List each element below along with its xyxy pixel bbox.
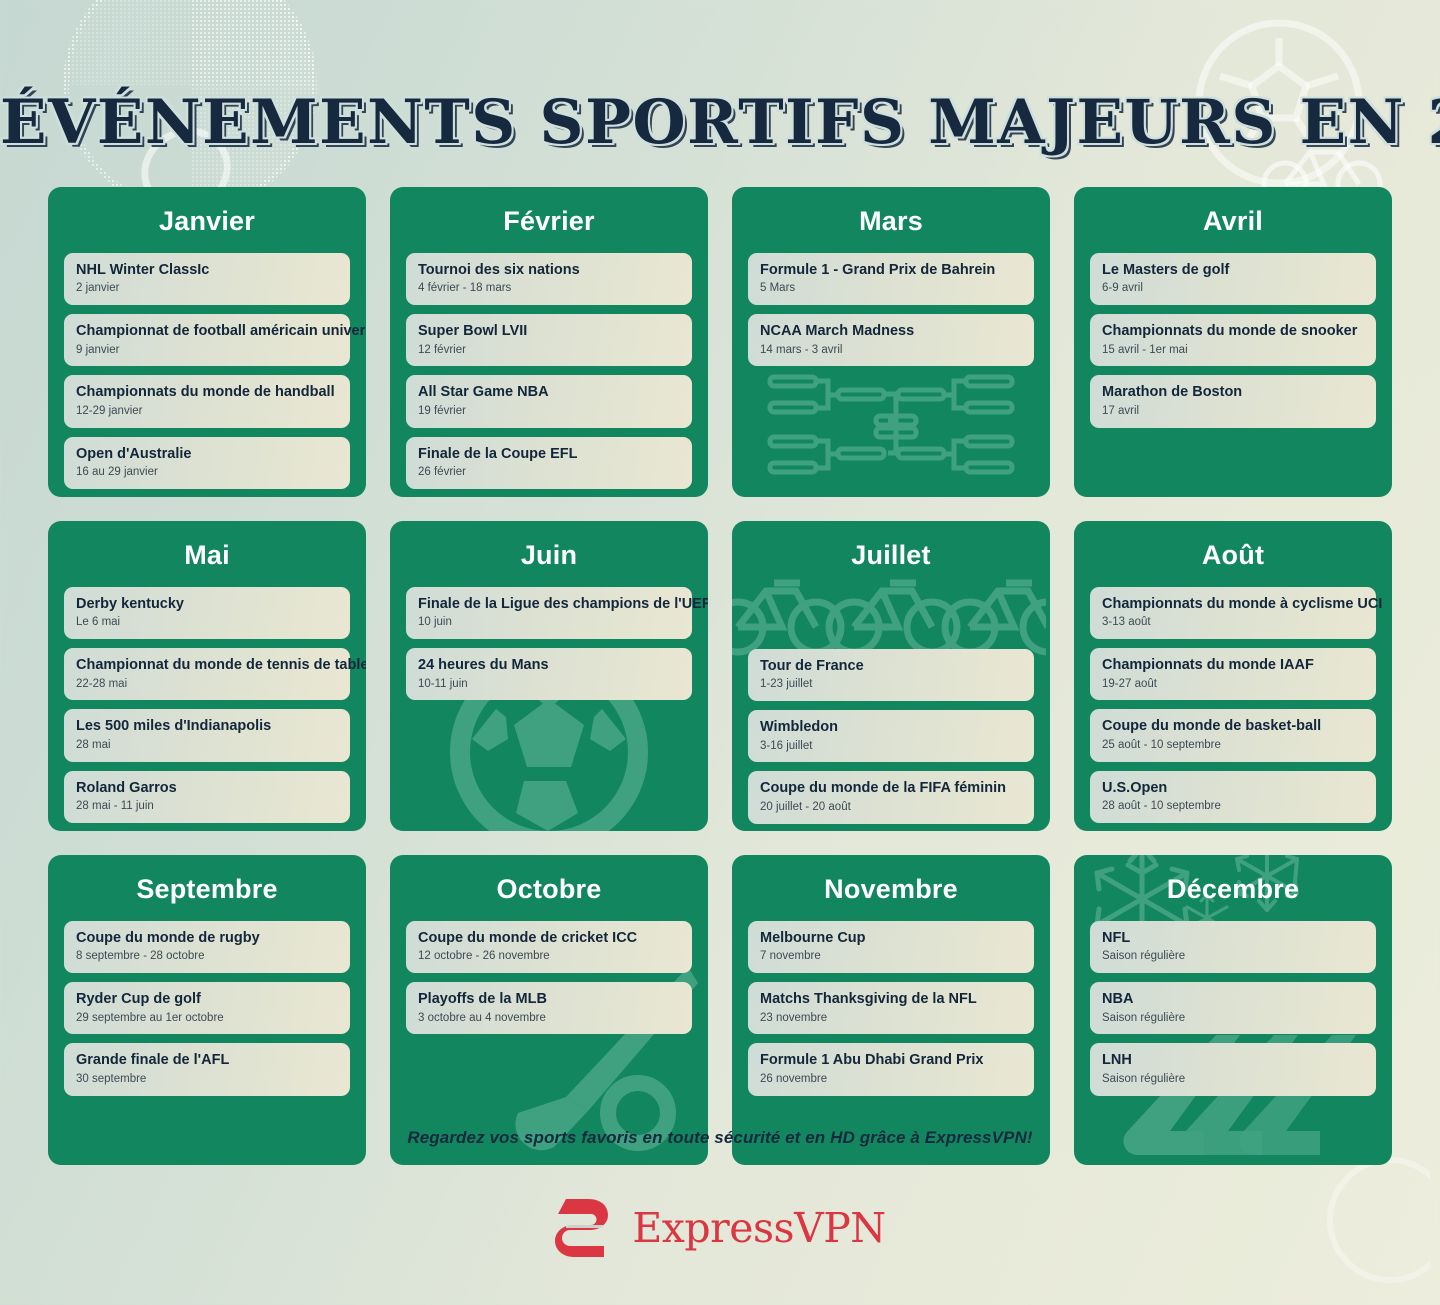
expressvpn-mark-icon [554, 1198, 618, 1258]
event-item[interactable]: Finale de la Ligue des champions de l'UE… [406, 587, 692, 639]
event-item[interactable]: Super Bowl LVII 12 février [406, 314, 692, 366]
month-card-octobre: Octobre Coupe du monde de cricket ICC 12… [390, 855, 708, 1165]
event-item[interactable]: Formule 1 Abu Dhabi Grand Prix 26 novemb… [748, 1043, 1034, 1095]
event-date: 3 octobre au 4 novembre [418, 1012, 680, 1025]
month-title: Décembre [1090, 855, 1376, 921]
event-name: Championnats du monde de snooker [1102, 323, 1364, 340]
event-date: Saison régulière [1102, 950, 1364, 963]
event-item[interactable]: Matchs Thanksgiving de la NFL 23 novembr… [748, 982, 1034, 1034]
month-title: Septembre [64, 855, 350, 921]
event-date: 12-29 janvier [76, 405, 338, 418]
month-card-juillet: Juillet Tour de France 1-23 juillet Wimb… [732, 521, 1050, 831]
event-item[interactable]: Championnats du monde à cyclisme UCI 3-1… [1090, 587, 1376, 639]
month-card-avril: Avril Le Masters de golf 6-9 avril Champ… [1074, 187, 1392, 497]
event-item[interactable]: NCAA March Madness 14 mars - 3 avril [748, 314, 1034, 366]
event-name: Melbourne Cup [760, 930, 1022, 947]
page-title-wrap: ÉVÉNEMENTS SPORTIFS MAJEURS EN 2023 [0, 46, 1440, 199]
event-name: Coupe du monde de rugby [76, 930, 338, 947]
event-name: Grande finale de l'AFL [76, 1052, 338, 1069]
event-item[interactable]: Coupe du monde de rugby 8 septembre - 28… [64, 921, 350, 973]
event-name: Le Masters de golf [1102, 262, 1364, 279]
events-list: Melbourne Cup 7 novembre Matchs Thanksgi… [748, 921, 1034, 1096]
months-grid: Janvier NHL Winter ClassIc 2 janvier Cha… [48, 187, 1392, 1165]
event-date: 5 Mars [760, 282, 1022, 295]
expressvpn-wordmark: ExpressVPN [632, 1208, 885, 1249]
event-date: 12 octobre - 26 novembre [418, 950, 680, 963]
event-item[interactable]: Tour de France 1-23 juillet [748, 649, 1034, 701]
event-item[interactable]: Coupe du monde de basket-ball 25 août - … [1090, 709, 1376, 761]
event-date: 15 avril - 1er mai [1102, 344, 1364, 357]
month-title: Mai [64, 521, 350, 587]
month-card-novembre: Novembre Melbourne Cup 7 novembre Matchs… [732, 855, 1050, 1165]
events-list: Derby kentucky Le 6 mai Championnat du m… [64, 587, 350, 823]
events-list: Championnats du monde à cyclisme UCI 3-1… [1090, 587, 1376, 823]
event-item[interactable]: Championnats du monde de snooker 15 avri… [1090, 314, 1376, 366]
event-item[interactable]: Les 500 miles d'Indianapolis 28 mai [64, 709, 350, 761]
events-list: Coupe du monde de cricket ICC 12 octobre… [406, 921, 692, 1035]
event-item[interactable]: Derby kentucky Le 6 mai [64, 587, 350, 639]
event-item[interactable]: U.S.Open 28 août - 10 septembre [1090, 771, 1376, 823]
event-item[interactable]: Le Masters de golf 6-9 avril [1090, 253, 1376, 305]
event-item[interactable]: Championnat du monde de tennis de table … [64, 648, 350, 700]
event-item[interactable]: Playoffs de la MLB 3 octobre au 4 novemb… [406, 982, 692, 1034]
tournament-bracket-icon [766, 371, 1016, 481]
event-date: 3-16 juillet [760, 740, 1022, 753]
events-list: NFL Saison régulière NBA Saison régulièr… [1090, 921, 1376, 1096]
event-item[interactable]: LNH Saison régulière [1090, 1043, 1376, 1095]
events-list: Tournoi des six nations 4 février - 18 m… [406, 253, 692, 489]
footer-tagline: Regardez vos sports favoris en toute séc… [0, 1128, 1440, 1148]
event-name: Formule 1 Abu Dhabi Grand Prix [760, 1052, 1022, 1069]
event-name: Open d'Australie [76, 446, 338, 463]
event-name: Ryder Cup de golf [76, 991, 338, 1008]
event-name: Wimbledon [760, 719, 1022, 736]
event-date: 9 janvier [76, 344, 338, 357]
event-name: NBA [1102, 991, 1364, 1008]
event-date: 23 novembre [760, 1012, 1022, 1025]
event-name: Les 500 miles d'Indianapolis [76, 718, 338, 735]
event-item[interactable]: Ryder Cup de golf 29 septembre au 1er oc… [64, 982, 350, 1034]
month-title: Juin [406, 521, 692, 587]
expressvpn-logo[interactable]: ExpressVPN [0, 1198, 1440, 1258]
event-name: Coupe du monde de cricket ICC [418, 930, 680, 947]
page-title: ÉVÉNEMENTS SPORTIFS MAJEURS EN 2023 [0, 87, 1440, 158]
event-date: 14 mars - 3 avril [760, 344, 1022, 357]
event-date: Saison régulière [1102, 1073, 1364, 1086]
event-item[interactable]: 24 heures du Mans 10-11 juin [406, 648, 692, 700]
event-item[interactable]: Wimbledon 3-16 juillet [748, 710, 1034, 762]
event-date: Saison régulière [1102, 1012, 1364, 1025]
event-item[interactable]: Finale de la Coupe EFL 26 février [406, 437, 692, 489]
event-date: 4 février - 18 mars [418, 282, 680, 295]
event-date: 6-9 avril [1102, 282, 1364, 295]
month-title: Octobre [406, 855, 692, 921]
event-name: Playoffs de la MLB [418, 991, 680, 1008]
event-date: Le 6 mai [76, 616, 338, 629]
event-item[interactable]: NHL Winter ClassIc 2 janvier [64, 253, 350, 305]
event-date: 19 février [418, 405, 680, 418]
event-name: Championnats du monde à cyclisme UCI [1102, 596, 1364, 613]
event-name: Championnats du monde IAAF [1102, 657, 1364, 674]
event-date: 17 avril [1102, 405, 1364, 418]
events-list: Finale de la Ligue des champions de l'UE… [406, 587, 692, 701]
month-title: Juillet [748, 521, 1034, 587]
event-date: 1-23 juillet [760, 678, 1022, 691]
events-list: Coupe du monde de rugby 8 septembre - 28… [64, 921, 350, 1096]
event-name: Tournoi des six nations [418, 262, 680, 279]
event-name: Finale de la Ligue des champions de l'UE… [418, 596, 680, 613]
event-date: 2 janvier [76, 282, 338, 295]
event-date: 29 septembre au 1er octobre [76, 1012, 338, 1025]
event-name: 24 heures du Mans [418, 657, 680, 674]
event-item[interactable]: Marathon de Boston 17 avril [1090, 375, 1376, 427]
event-item[interactable]: Coupe du monde de cricket ICC 12 octobre… [406, 921, 692, 973]
event-name: Championnat de football américain univer… [76, 323, 338, 340]
event-date: 28 mai [76, 739, 338, 752]
event-date: 8 septembre - 28 octobre [76, 950, 338, 963]
event-date: 12 février [418, 344, 680, 357]
event-name: U.S.Open [1102, 780, 1364, 797]
event-name: Matchs Thanksgiving de la NFL [760, 991, 1022, 1008]
event-date: 26 février [418, 466, 680, 479]
event-name: Super Bowl LVII [418, 323, 680, 340]
month-card-janvier: Janvier NHL Winter ClassIc 2 janvier Cha… [48, 187, 366, 497]
event-date: 28 mai - 11 juin [76, 800, 338, 813]
event-name: Tour de France [760, 658, 1022, 675]
event-date: 19-27 août [1102, 678, 1364, 691]
event-date: 10-11 juin [418, 678, 680, 691]
event-item[interactable]: Championnats du monde IAAF 19-27 août [1090, 648, 1376, 700]
event-date: 10 juin [418, 616, 680, 629]
event-item[interactable]: Championnats du monde de handball 12-29 … [64, 375, 350, 427]
event-name: Derby kentucky [76, 596, 338, 613]
month-title: Août [1090, 521, 1376, 587]
event-name: Coupe du monde de basket-ball [1102, 718, 1364, 735]
month-card-mai: Mai Derby kentucky Le 6 mai Championnat … [48, 521, 366, 831]
event-name: NCAA March Madness [760, 323, 1022, 340]
event-name: Coupe du monde de la FIFA féminin [760, 780, 1022, 797]
event-item[interactable]: Open d'Australie 16 au 29 janvier [64, 437, 350, 489]
month-card-septembre: Septembre Coupe du monde de rugby 8 sept… [48, 855, 366, 1165]
event-name: Championnat du monde de tennis de table [76, 657, 338, 674]
event-name: LNH [1102, 1052, 1364, 1069]
event-name: Roland Garros [76, 780, 338, 797]
event-date: 26 novembre [760, 1073, 1022, 1086]
event-item[interactable]: Formule 1 - Grand Prix de Bahrein 5 Mars [748, 253, 1034, 305]
event-item[interactable]: Championnat de football américain univer… [64, 314, 350, 366]
event-date: 16 au 29 janvier [76, 466, 338, 479]
month-card-decembre: Décembre NFL Saison régulière NBA Saison… [1074, 855, 1392, 1165]
month-card-mars: Mars Formule 1 - Grand Prix de Bahrein 5… [732, 187, 1050, 497]
event-date: 30 septembre [76, 1073, 338, 1086]
event-name: Finale de la Coupe EFL [418, 446, 680, 463]
month-card-aout: Août Championnats du monde à cyclisme UC… [1074, 521, 1392, 831]
event-name: Championnats du monde de handball [76, 384, 338, 401]
event-date: 28 août - 10 septembre [1102, 800, 1364, 813]
month-card-fevrier: Février Tournoi des six nations 4 févrie… [390, 187, 708, 497]
events-list: NHL Winter ClassIc 2 janvier Championnat… [64, 253, 350, 489]
event-name: All Star Game NBA [418, 384, 680, 401]
event-date: 7 novembre [760, 950, 1022, 963]
event-item[interactable]: All Star Game NBA 19 février [406, 375, 692, 427]
events-list: Le Masters de golf 6-9 avril Championnat… [1090, 253, 1376, 428]
event-item[interactable]: NBA Saison régulière [1090, 982, 1376, 1034]
event-name: NHL Winter ClassIc [76, 262, 338, 279]
event-date: 22-28 mai [76, 678, 338, 691]
event-item[interactable]: Melbourne Cup 7 novembre [748, 921, 1034, 973]
event-name: Marathon de Boston [1102, 384, 1364, 401]
events-list: Tour de France 1-23 juillet Wimbledon 3-… [748, 649, 1034, 824]
event-date: 3-13 août [1102, 616, 1364, 629]
event-name: Formule 1 - Grand Prix de Bahrein [760, 262, 1022, 279]
event-name: NFL [1102, 930, 1364, 947]
month-title: Novembre [748, 855, 1034, 921]
event-item[interactable]: Roland Garros 28 mai - 11 juin [64, 771, 350, 823]
event-item[interactable]: NFL Saison régulière [1090, 921, 1376, 973]
events-list: Formule 1 - Grand Prix de Bahrein 5 Mars… [748, 253, 1034, 367]
event-item[interactable]: Grande finale de l'AFL 30 septembre [64, 1043, 350, 1095]
event-item[interactable]: Tournoi des six nations 4 février - 18 m… [406, 253, 692, 305]
event-date: 25 août - 10 septembre [1102, 739, 1364, 752]
event-date: 20 juillet - 20 août [760, 801, 1022, 814]
event-item[interactable]: Coupe du monde de la FIFA féminin 20 jui… [748, 771, 1034, 823]
month-card-juin: Juin Finale de la Ligue des champions de… [390, 521, 708, 831]
